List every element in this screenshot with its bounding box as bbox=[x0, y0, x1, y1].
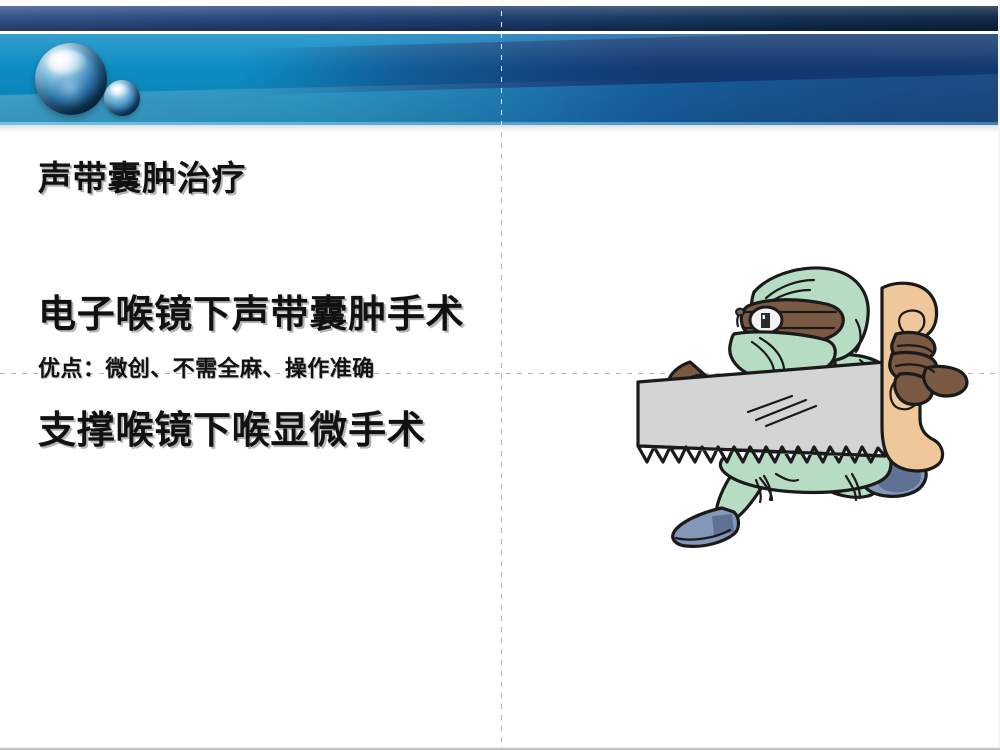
surgeon-illustration-svg: .ol { stroke:#1a1a1a; stroke-width:3.2; … bbox=[630, 250, 990, 570]
banner-drop-shadow bbox=[0, 125, 1000, 132]
subtext-advantages: 优点：微创、不需全麻、操作准确 bbox=[38, 356, 375, 384]
surgeon-right-hand bbox=[890, 332, 967, 404]
vertical-guide-line-banner bbox=[501, 0, 502, 132]
large-metallic-sphere-icon bbox=[35, 43, 107, 115]
slide-bottom-edge bbox=[0, 746, 1000, 750]
slide-header-banner bbox=[0, 0, 1000, 130]
heading-suspension-microsurgery: 支撑喉镜下喉显微手术 bbox=[38, 409, 426, 453]
banner-blue-band bbox=[0, 34, 1000, 122]
banner-navy-strip bbox=[0, 6, 1000, 31]
vertical-guide-line bbox=[501, 132, 502, 750]
heading-endoscopic-surgery: 电子喉镜下声带囊肿手术 bbox=[38, 293, 464, 337]
presentation-slide: 声带囊肿治疗 电子喉镜下声带囊肿手术 优点：微创、不需全麻、操作准确 支撑喉镜下… bbox=[0, 0, 1000, 750]
small-metallic-sphere-icon bbox=[104, 80, 140, 116]
banner-sheen-overlay bbox=[0, 34, 1000, 122]
clipart-surgeon-with-saw: .ol { stroke:#1a1a1a; stroke-width:3.2; … bbox=[630, 250, 990, 570]
page-title: 声带囊肿治疗 bbox=[38, 160, 246, 200]
